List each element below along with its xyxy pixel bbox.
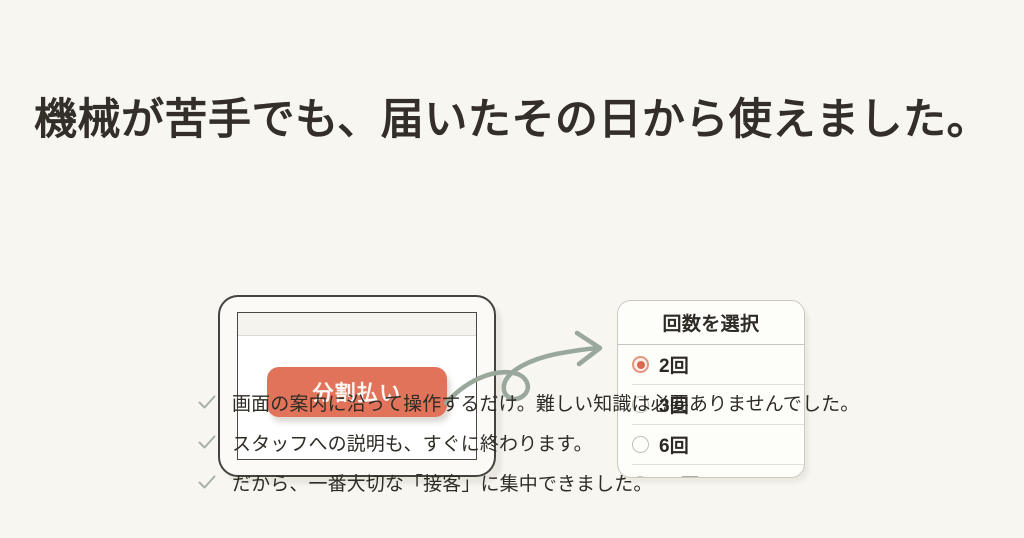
- slide-root: 機械が苦手でも、届いたその日から使えました。 分割払い 回数を選択: [0, 0, 1024, 538]
- benefit-list: 画面の案内に沿って操作するだけ。難しい知識は必要ありませんでした。 スタッフへの…: [196, 382, 916, 502]
- page-title: 機械が苦手でも、届いたその日から使えました。: [0, 85, 1024, 147]
- list-item-label: 画面の案内に沿って操作するだけ。難しい知識は必要ありませんでした。: [232, 389, 859, 416]
- list-item: スタッフへの説明も、すぐに終わります。: [196, 422, 916, 462]
- dropdown-option-2[interactable]: 2回: [632, 345, 804, 385]
- check-icon: [196, 391, 218, 413]
- list-item: だから、一番大切な「接客」に集中できました。: [196, 462, 916, 502]
- illustration-group: 分割払い 回数を選択 2回 3回: [0, 140, 1024, 370]
- list-item-label: スタッフへの説明も、すぐに終わります。: [232, 429, 593, 456]
- dropdown-option-label: 2回: [659, 351, 689, 378]
- radio-selected-icon[interactable]: [632, 356, 649, 373]
- list-item-label: だから、一番大切な「接客」に集中できました。: [232, 469, 653, 496]
- check-icon: [196, 431, 218, 453]
- check-icon: [196, 471, 218, 493]
- dropdown-title: 回数を選択: [618, 301, 804, 345]
- list-item: 画面の案内に沿って操作するだけ。難しい知識は必要ありませんでした。: [196, 382, 916, 422]
- tablet-titlebar: [238, 313, 476, 336]
